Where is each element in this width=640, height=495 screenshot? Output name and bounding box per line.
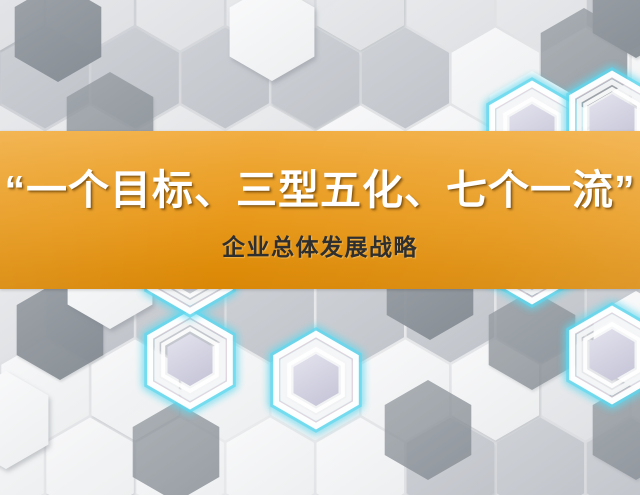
- slide-subtitle: 企业总体发展战略: [0, 231, 640, 263]
- slide-title: “一个目标、三型五化、七个一流”: [0, 165, 640, 215]
- presentation-slide: “一个目标、三型五化、七个一流” 企业总体发展战略: [0, 0, 640, 495]
